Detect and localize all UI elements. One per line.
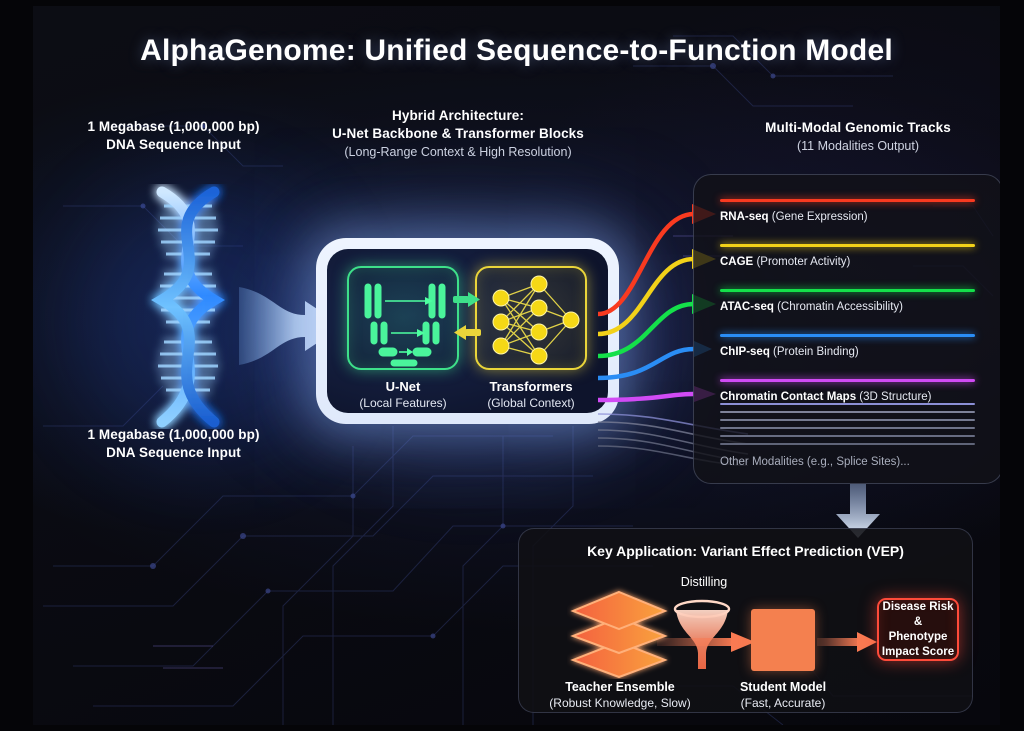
dna-input-label-top-line1: 1 Megabase (1,000,000 bp) <box>41 118 306 136</box>
transformers-sub: (Global Context) <box>461 395 601 411</box>
track-row: CAGE (Promoter Activity) <box>720 244 975 268</box>
transformers-name: Transformers <box>461 379 601 395</box>
student-caption: Student Model (Fast, Accurate) <box>715 679 851 711</box>
track-name: RNA-seq <box>720 211 769 223</box>
status-badge[interactable]: Disease Risk & Phenotype Impact Score <box>877 598 959 661</box>
track-name: ATAC-seq <box>720 301 774 313</box>
tracks-heading-line1: Multi-Modal Genomic Tracks <box>693 119 1000 137</box>
student-name: Student Model <box>715 679 851 695</box>
faint-line <box>720 403 975 405</box>
unet-caption: U-Net (Local Features) <box>333 379 473 411</box>
track-name: CAGE <box>720 256 753 268</box>
vep-panel: Key Application: Variant Effect Predicti… <box>518 528 973 713</box>
track-row: RNA-seq (Gene Expression) <box>720 199 975 223</box>
architecture-heading-line2: U-Net Backbone & Transformer Blocks <box>288 125 628 143</box>
model-container: U-Net (Local Features) Transformers (Glo… <box>316 238 619 424</box>
faint-line <box>720 435 975 437</box>
architecture-heading-line1: Hybrid Architecture: <box>288 107 628 125</box>
transformers-block[interactable] <box>475 266 587 370</box>
genomic-tracks-panel: RNA-seq (Gene Expression) CAGE (Promoter… <box>693 174 1000 484</box>
unet-name: U-Net <box>333 379 473 395</box>
track-line <box>720 289 975 292</box>
faint-line <box>720 427 975 429</box>
track-name: Chromatin Contact Maps <box>720 391 856 403</box>
other-modalities-label: Other Modalities (e.g., Splice Sites)... <box>720 456 910 468</box>
dna-input-label-bottom-line2: DNA Sequence Input <box>41 444 306 462</box>
track-line <box>720 334 975 337</box>
student-sub: (Fast, Accurate) <box>715 695 851 711</box>
unet-sub: (Local Features) <box>333 395 473 411</box>
tracks-heading: Multi-Modal Genomic Tracks (11 Modalitie… <box>693 119 1000 155</box>
faint-line <box>720 419 975 421</box>
transformers-caption: Transformers (Global Context) <box>461 379 601 411</box>
infographic-root: AlphaGenome: Unified Sequence-to-Functio… <box>0 0 1024 731</box>
track-line <box>720 379 975 382</box>
teacher-caption: Teacher Ensemble (Robust Knowledge, Slow… <box>529 679 711 711</box>
neural-network-icon <box>477 268 589 372</box>
other-modality-lines <box>720 403 975 451</box>
faint-line <box>720 443 975 445</box>
faint-line <box>720 411 975 413</box>
dna-input-label-top: 1 Megabase (1,000,000 bp) DNA Sequence I… <box>41 118 306 154</box>
square-block-icon <box>751 609 815 671</box>
distilling-label: Distilling <box>659 575 749 589</box>
track-row: Chromatin Contact Maps (3D Structure) <box>720 379 975 403</box>
tracks-heading-line2: (11 Modalities Output) <box>693 137 1000 155</box>
page-title: AlphaGenome: Unified Sequence-to-Functio… <box>33 34 1000 68</box>
score-line1: Disease Risk & <box>883 601 954 628</box>
track-name: ChIP-seq <box>720 346 770 358</box>
architecture-heading: Hybrid Architecture: U-Net Backbone & Tr… <box>288 107 628 161</box>
unet-to-transformer-arrows <box>453 289 481 349</box>
track-desc: (Chromatin Accessibility) <box>777 301 903 313</box>
score-line3: Impact Score <box>882 646 954 658</box>
track-row: ChIP-seq (Protein Binding) <box>720 334 975 358</box>
dna-input-label-bottom: 1 Megabase (1,000,000 bp) DNA Sequence I… <box>41 426 306 462</box>
score-line2: Phenotype <box>889 631 948 643</box>
teacher-sub: (Robust Knowledge, Slow) <box>529 695 711 711</box>
score-text: Disease Risk & Phenotype Impact Score <box>879 600 957 660</box>
score-arrow-icon <box>817 629 879 655</box>
track-line <box>720 199 975 202</box>
track-desc: (3D Structure) <box>859 391 931 403</box>
track-line <box>720 244 975 247</box>
unet-diagram-icon <box>349 268 461 372</box>
track-desc: (Gene Expression) <box>772 211 868 223</box>
track-desc: (Protein Binding) <box>773 346 859 358</box>
distill-arrow-icon <box>657 629 757 655</box>
diagram-canvas: AlphaGenome: Unified Sequence-to-Functio… <box>33 6 1000 725</box>
dna-double-helix-icon <box>128 184 248 429</box>
teacher-name: Teacher Ensemble <box>529 679 711 695</box>
vep-title: Key Application: Variant Effect Predicti… <box>519 543 972 559</box>
architecture-heading-line3: (Long-Range Context & High Resolution) <box>288 143 628 161</box>
unet-block[interactable] <box>347 266 459 370</box>
model-inner-panel: U-Net (Local Features) Transformers (Glo… <box>327 249 608 413</box>
dna-input-label-top-line2: DNA Sequence Input <box>41 136 306 154</box>
track-desc: (Promoter Activity) <box>756 256 850 268</box>
track-row: ATAC-seq (Chromatin Accessibility) <box>720 289 975 313</box>
